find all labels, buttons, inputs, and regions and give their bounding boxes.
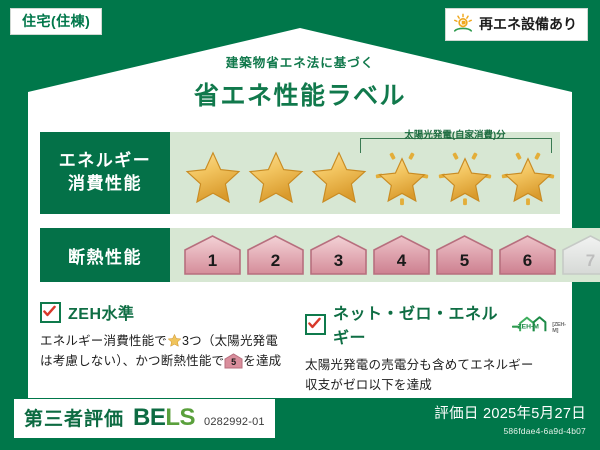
nze-line1: 太陽光発電の売電分も含めてエネルギー (305, 358, 534, 372)
criteria-nze-description: 太陽光発電の売電分も含めてエネルギー 収支がゼロ以下を達成 (305, 355, 570, 395)
energy-label-line2: 消費性能 (68, 173, 142, 196)
zeh-text-b: 3つ（太陽光発電 (182, 334, 278, 348)
insulation-level-badge-inactive: 7 (560, 234, 600, 276)
star-solar-icon (434, 147, 496, 209)
zeh-m-logo: ZEH-M [ZEH-M] (512, 312, 570, 336)
star-icon (308, 147, 370, 209)
insulation-performance-label: 断熱性能 (40, 228, 170, 282)
insulation-level-badge: 5 (434, 234, 495, 276)
insulation-performance-body: 1 2 3 4 5 (170, 228, 600, 282)
insulation-label-text: 断熱性能 (68, 243, 142, 268)
energy-label-line1: エネルギー (59, 150, 152, 173)
criteria-zeh-title: ZEH水準 (68, 300, 135, 324)
star-solar-icon (497, 147, 559, 209)
bels-jp-label: 第三者評価 (24, 404, 124, 431)
inline-badge-value: 5 (224, 355, 243, 369)
energy-star-rating (170, 137, 559, 209)
evaluation-info: 評価日 2025年5月27日 586fdae4-6a9d-4b07 (434, 402, 586, 436)
energy-performance-body: 太陽光発電(自家消費)分 (170, 132, 560, 214)
insulation-level-badge: 4 (371, 234, 432, 276)
criteria-net-zero-energy: ネット・ゼロ・エネルギー ZEH-M [ZEH-M] 太陽光発電の売電分も含めて… (305, 300, 570, 395)
page-title: 建築物省エネ法に基づく 省エネ性能ラベル (0, 52, 600, 112)
svg-text:ZEH-M: ZEH-M (518, 324, 540, 331)
checkbox-net-zero-energy[interactable] (305, 314, 326, 335)
star-icon (245, 147, 307, 209)
inline-star-icon (167, 333, 182, 348)
renewable-equipment-badge: 再エネ設備あり (445, 8, 588, 41)
bels-wordmark-part2: LS (165, 404, 195, 431)
inline-insulation-badge: 5 (224, 353, 243, 369)
solar-caption: 太陽光発電(自家消費)分 (350, 127, 560, 141)
insulation-level-scale: 1 2 3 4 5 (170, 234, 600, 276)
evaluation-date-label: 評価日 (434, 406, 478, 422)
building-type-label: 住宅(住棟) (22, 13, 90, 29)
insulation-level-badge: 1 (182, 234, 243, 276)
insulation-level-badge: 6 (497, 234, 558, 276)
title-main: 省エネ性能ラベル (0, 76, 600, 112)
zeh-m-logo-caption: [ZEH-M] (552, 322, 570, 336)
star-icon (182, 147, 244, 209)
criteria-zeh: ZEH水準 エネルギー消費性能で3つ（太陽光発電 は考慮しない）、かつ断熱性能で… (40, 300, 295, 371)
checkbox-zeh[interactable] (40, 302, 61, 323)
zeh-text-c: は考慮しない）、かつ断熱性能で (40, 354, 224, 368)
energy-performance-row: エネルギー 消費性能 太陽光発電(自家消費)分 (40, 132, 560, 214)
evaluation-id: 586fdae4-6a9d-4b07 (434, 426, 586, 436)
star-solar-icon (371, 147, 433, 209)
nze-line2: 収支がゼロ以下を達成 (305, 378, 432, 392)
zeh-text-d: を達成 (243, 354, 281, 368)
energy-performance-label: エネルギー 消費性能 (40, 132, 170, 214)
title-subtitle: 建築物省エネ法に基づく (0, 52, 600, 71)
insulation-performance-row: 断熱性能 1 2 3 4 (40, 228, 560, 282)
zeh-text-a: エネルギー消費性能で (40, 334, 167, 348)
bels-certificate-number: 0282992-01 (204, 416, 265, 428)
insulation-level-badge: 2 (245, 234, 306, 276)
criteria-nze-title: ネット・ゼロ・エネルギー (333, 300, 504, 348)
evaluation-date: 評価日 2025年5月27日 (434, 402, 586, 423)
criteria-zeh-description: エネルギー消費性能で3つ（太陽光発電 は考慮しない）、かつ断熱性能で5を達成 (40, 331, 295, 371)
building-type-badge: 住宅(住棟) (10, 8, 102, 35)
renewable-equipment-label: 再エネ設備あり (479, 17, 577, 31)
bels-wordmark: BELS (133, 404, 195, 432)
sun-renewable-icon (452, 13, 474, 35)
criteria-zeh-header: ZEH水準 (40, 300, 295, 324)
bels-energy-label: 住宅(住棟) 再エネ設備あり 建築物省エネ法に基づく 省エネ性能ラベル (0, 0, 600, 450)
bels-certification-badge: 第三者評価 BELS 0282992-01 (14, 399, 275, 438)
bels-wordmark-part1: BE (133, 404, 165, 431)
evaluation-date-value: 2025年5月27日 (483, 406, 586, 422)
criteria-nze-header: ネット・ゼロ・エネルギー ZEH-M [ZEH-M] (305, 300, 570, 348)
insulation-level-badge: 3 (308, 234, 369, 276)
